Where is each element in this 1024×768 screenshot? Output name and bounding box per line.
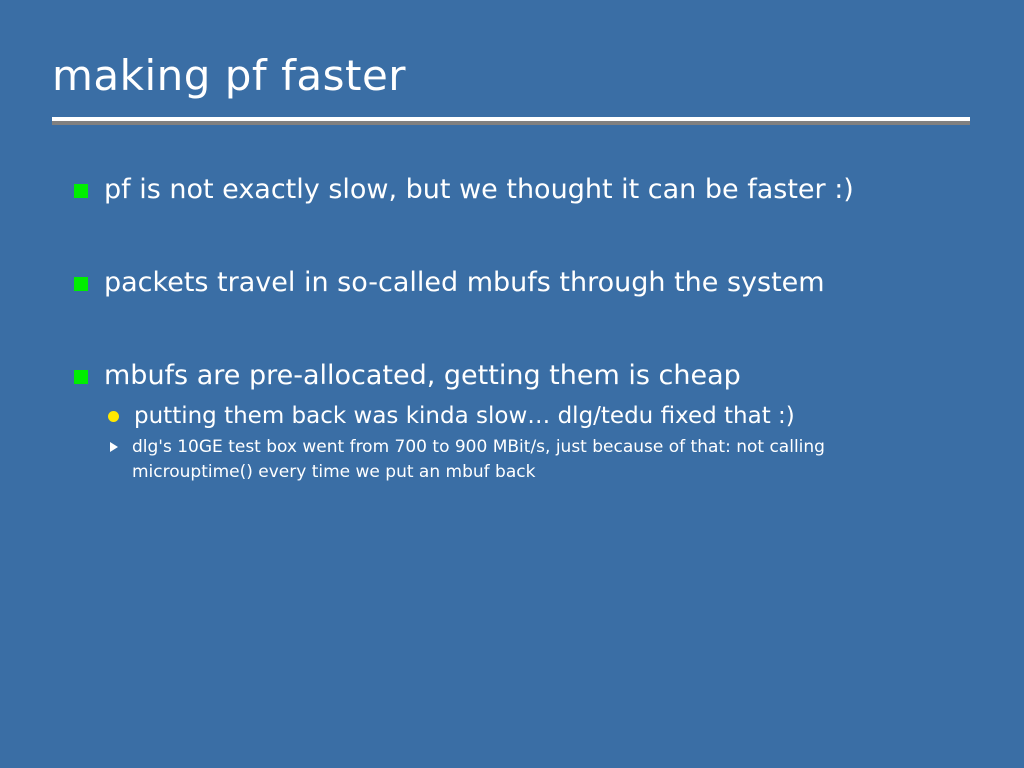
bullet-text: putting them back was kinda slow… dlg/te… bbox=[134, 403, 795, 429]
bullet-text: pf is not exactly slow, but we thought i… bbox=[104, 174, 854, 205]
presentation-slide: making pf faster pf is not exactly slow,… bbox=[0, 0, 1024, 768]
bullet-item-level1: mbufs are pre-allocated, getting them is… bbox=[72, 358, 972, 485]
square-bullet-icon bbox=[74, 184, 88, 198]
page-title: making pf faster bbox=[52, 52, 972, 100]
bullet-item-level3: dlg's 10GE test box went from 700 to 900… bbox=[104, 435, 892, 485]
sub-bullet-list: putting them back was kinda slow… dlg/te… bbox=[104, 401, 972, 485]
bullet-text: mbufs are pre-allocated, getting them is… bbox=[104, 360, 741, 391]
dot-bullet-icon bbox=[108, 411, 119, 422]
slide-body: pf is not exactly slow, but we thought i… bbox=[72, 172, 972, 485]
bullet-text: packets travel in so-called mbufs throug… bbox=[104, 267, 825, 298]
bullet-item-level2: putting them back was kinda slow… dlg/te… bbox=[104, 401, 972, 431]
bullet-item-level1: packets travel in so-called mbufs throug… bbox=[72, 265, 972, 300]
square-bullet-icon bbox=[74, 370, 88, 384]
square-bullet-icon bbox=[74, 277, 88, 291]
bullet-item-level1: pf is not exactly slow, but we thought i… bbox=[72, 172, 864, 207]
slide-title-block: making pf faster bbox=[52, 52, 972, 100]
bullet-text: dlg's 10GE test box went from 700 to 900… bbox=[132, 437, 825, 482]
title-underline-rule bbox=[52, 117, 970, 121]
triangle-bullet-icon bbox=[110, 442, 118, 452]
